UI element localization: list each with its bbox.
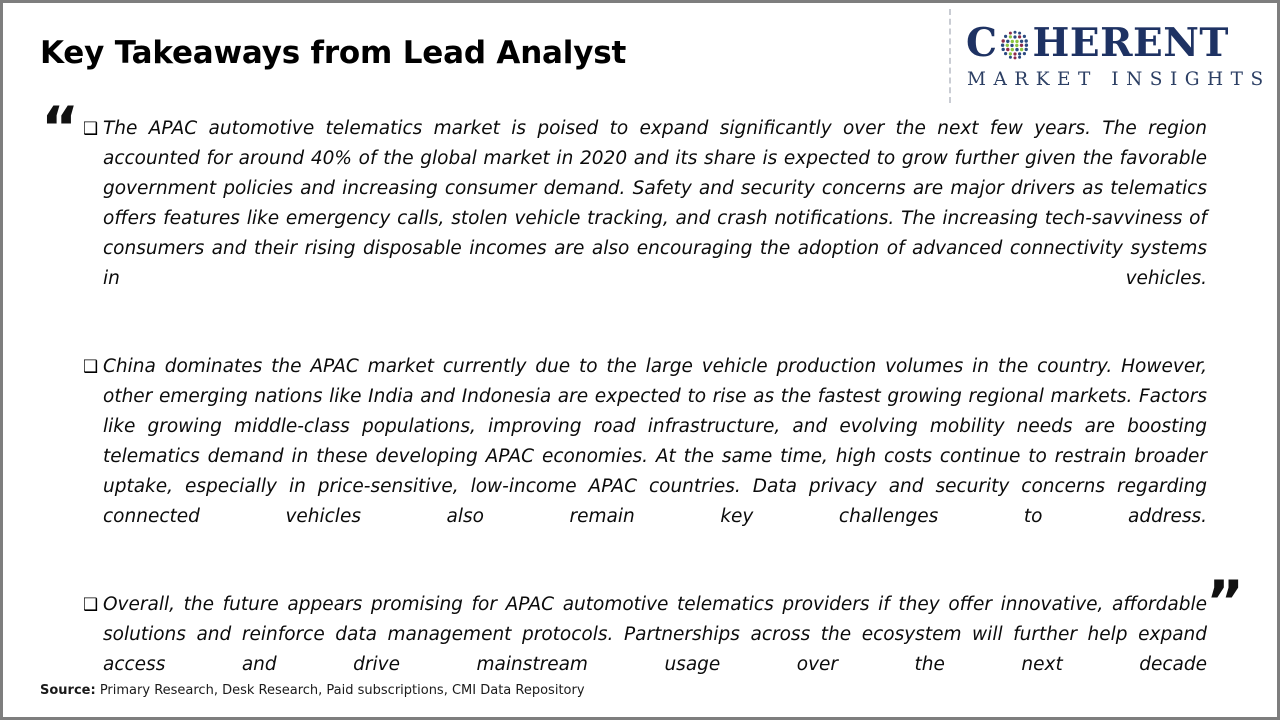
takeaways-list: ❑ The APAC automotive telematics market … — [83, 114, 1207, 710]
takeaway-paragraph-1: The APAC automotive telematics market is… — [103, 114, 1207, 324]
list-item: ❑ The APAC automotive telematics market … — [83, 114, 1207, 324]
logo-letters-herent: HERENT — [1033, 24, 1229, 63]
slide-header: Key Takeaways from Lead Analyst C — [3, 3, 1277, 107]
square-bullet-icon: ❑ — [83, 114, 103, 144]
close-quote-icon: ” — [1206, 573, 1244, 631]
list-item: ❑ China dominates the APAC market curren… — [83, 352, 1207, 562]
globe-dot-sphere-icon — [998, 28, 1032, 62]
logo-subtitle: MARKET INSIGHTS — [964, 69, 1259, 90]
logo-wordmark: C — [964, 19, 1259, 67]
square-bullet-icon: ❑ — [83, 352, 103, 382]
header-dashed-divider — [949, 9, 951, 103]
coherent-market-insights-logo: C — [964, 19, 1259, 97]
source-label: Source: — [40, 683, 96, 698]
logo-letter-c: C — [966, 24, 998, 63]
takeaway-paragraph-2: China dominates the APAC market currentl… — [103, 352, 1207, 562]
square-bullet-icon: ❑ — [83, 590, 103, 620]
page-title: Key Takeaways from Lead Analyst — [40, 35, 626, 71]
slide-canvas: Key Takeaways from Lead Analyst C — [0, 0, 1280, 720]
source-note: Source: Primary Research, Desk Research,… — [40, 683, 585, 698]
open-quote-icon: “ — [41, 99, 79, 157]
source-value: Primary Research, Desk Research, Paid su… — [96, 683, 585, 698]
